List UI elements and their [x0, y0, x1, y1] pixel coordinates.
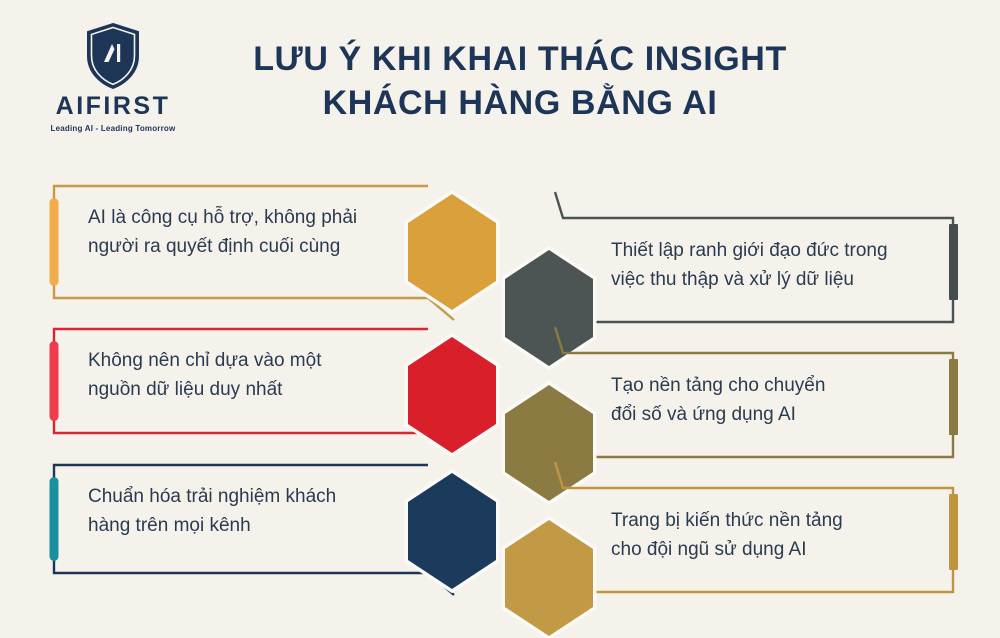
info-card-text: Chuẩn hóa trải nghiệm khách hàng trên mọ…	[88, 483, 388, 541]
info-card-text: Thiết lập ranh giới đạo đức trong việc t…	[611, 237, 931, 295]
info-card-omnichannel-experience[interactable]: Chuẩn hóa trải nghiệm khách hàng trên mọ…	[48, 447, 568, 615]
info-card-text: AI là công cụ hỗ trợ, không phải người r…	[88, 204, 388, 262]
info-card-text: Không nên chỉ dựa vào một nguồn dữ liệu …	[88, 347, 388, 405]
card-accent-bar	[949, 224, 958, 300]
info-card-team-ai-knowledge[interactable]: Trang bị kiến thức nền tảng cho đội ngũ …	[503, 474, 1000, 638]
info-card-text: Tạo nền tảng cho chuyển đổi số và ứng dụ…	[611, 372, 931, 430]
infographic-items: AI là công cụ hỗ trợ, không phải người r…	[0, 0, 1000, 625]
info-card-text: Trang bị kiến thức nền tảng cho đội ngũ …	[611, 507, 931, 565]
card-accent-bar	[50, 341, 59, 421]
card-accent-bar	[949, 359, 958, 435]
card-accent-bar	[50, 198, 59, 286]
card-accent-bar	[50, 477, 59, 561]
card-accent-bar	[949, 494, 958, 570]
